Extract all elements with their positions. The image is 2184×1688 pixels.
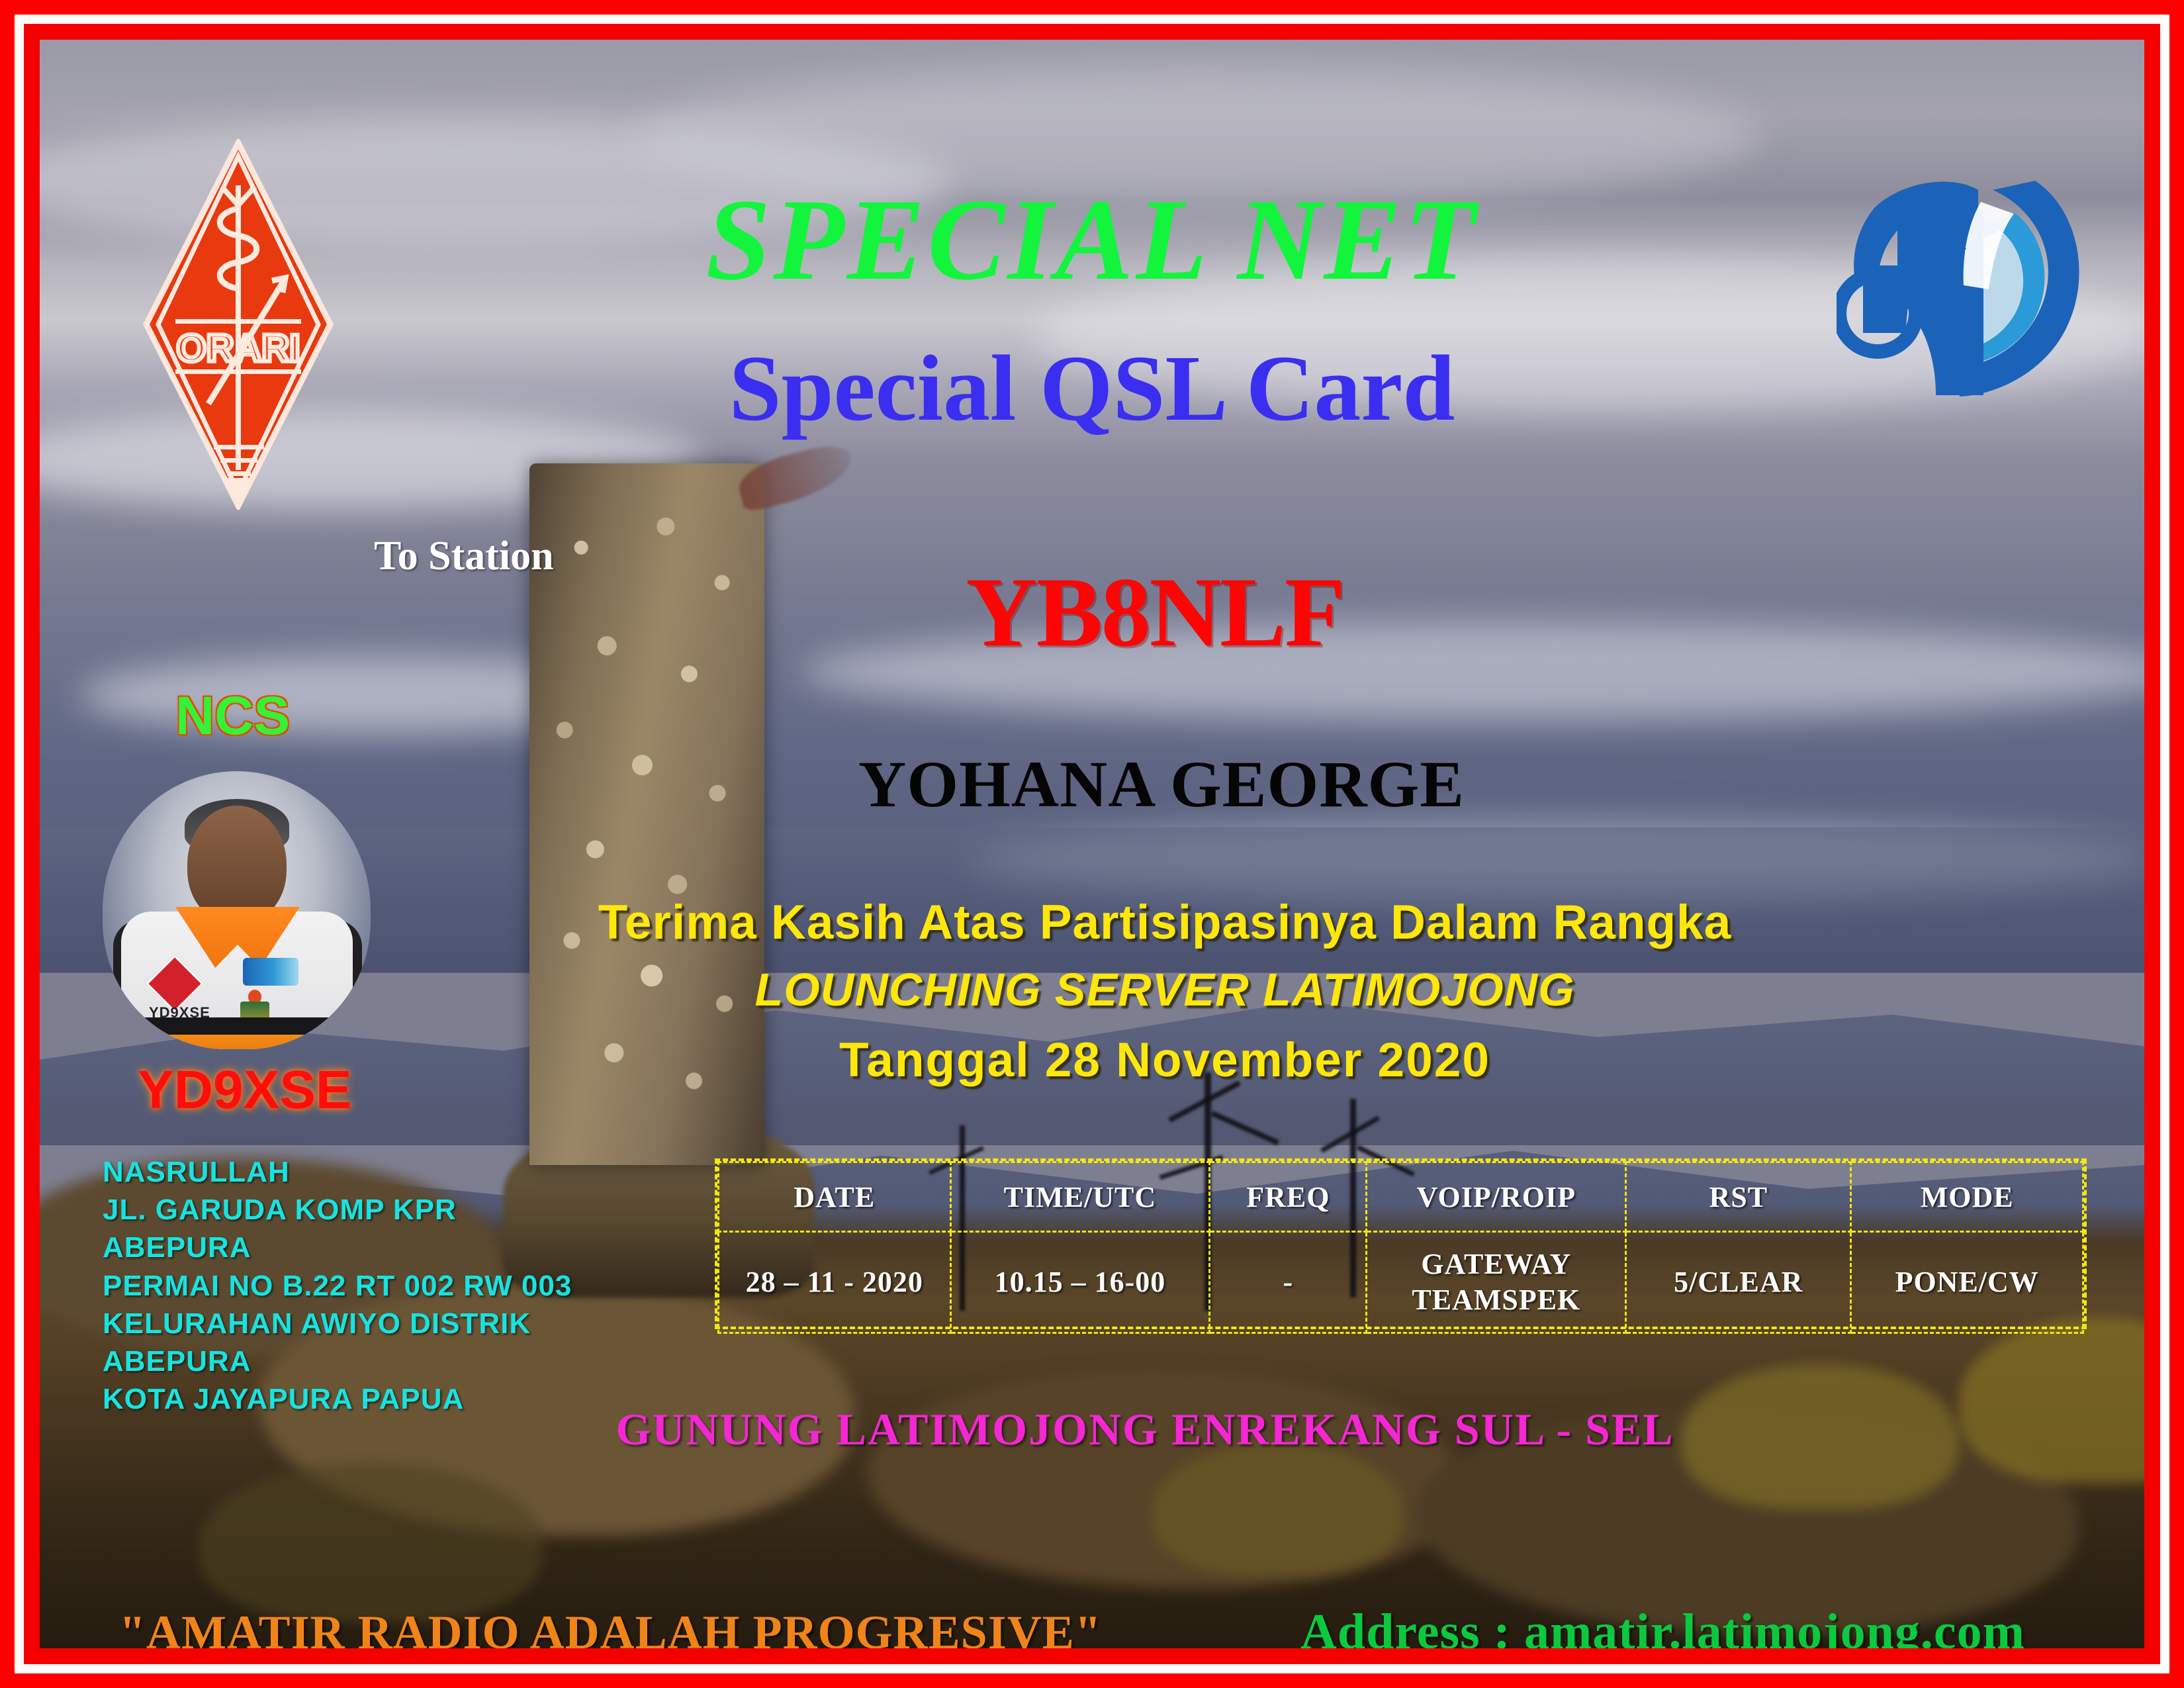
- column-header-mode: MODE: [1851, 1162, 2083, 1232]
- grass-tuft: [1152, 1443, 1403, 1575]
- address-line: NASRULLAH: [103, 1153, 572, 1191]
- operator-face: [187, 806, 287, 923]
- address-line: KELURAHAN AWIYO DISTRIK: [103, 1305, 572, 1342]
- ncs-label: NCS: [175, 685, 290, 747]
- qsl-card-inner-frame: ORARI SPE: [24, 24, 2160, 1664]
- cell-mode: PONE/CW: [1851, 1232, 2083, 1333]
- recipient-callsign: YB8NLF: [103, 563, 2144, 662]
- table-row: 28 – 11 - 2020 10.15 – 16-00 - GATEWAY T…: [719, 1232, 2083, 1333]
- column-header-rst: RST: [1626, 1162, 1851, 1232]
- uniform-callsign-text: YD9XSE: [149, 1004, 210, 1021]
- address-line: ABEPURA: [103, 1342, 572, 1380]
- address-line: PERMAI NO B.22 RT 002 RW 003: [103, 1267, 572, 1305]
- grass-tuft: [199, 1463, 543, 1622]
- ncs-operator-photo: YD9XSE: [103, 771, 371, 1049]
- cell-freq: -: [1210, 1232, 1367, 1333]
- cell-rst: 5/CLEAR: [1626, 1232, 1851, 1333]
- event-thanks-line: Terima Kasih Atas Partisipasinya Dalam R…: [113, 898, 2144, 947]
- qsl-card-outer-frame: ORARI SPE: [0, 0, 2184, 1688]
- uniform-club-logo: [243, 958, 298, 986]
- background-photo-mountain-summit: ORARI SPE: [40, 40, 2144, 1648]
- page-subtitle-special-qsl-card: Special QSL Card: [40, 341, 2144, 435]
- column-header-date: DATE: [719, 1162, 951, 1232]
- station-address-block: NASRULLAH JL. GARUDA KOMP KPR ABEPURA PE…: [103, 1153, 572, 1418]
- event-launch-line: LOUNCHING SERVER LATIMOJONG: [113, 966, 2144, 1013]
- address-line: ABEPURA: [103, 1229, 572, 1266]
- address-line: JL. GARUDA KOMP KPR: [103, 1191, 572, 1229]
- location-line: GUNUNG LATIMOJONG ENREKANG SUL - SEL: [93, 1403, 2144, 1456]
- cell-voip-roip: GATEWAY TEAMSPEK: [1367, 1232, 1626, 1333]
- footer-motto: "AMATIR RADIO ADALAH PROGRESIVE": [119, 1605, 1102, 1648]
- cell-voip-roip-line1: GATEWAY: [1368, 1246, 1624, 1282]
- column-header-freq: FREQ: [1210, 1162, 1367, 1232]
- qso-details-table: DATE TIME/UTC FREQ VOIP/ROIP RST MODE 28…: [715, 1158, 2087, 1329]
- recipient-operator-name: YOHANA GEORGE: [109, 751, 2144, 818]
- footer-web-address: Address : amatir.latimojong.com: [1300, 1603, 2025, 1648]
- column-header-time-utc: TIME/UTC: [950, 1162, 1210, 1232]
- column-header-voip-roip: VOIP/ROIP: [1367, 1162, 1626, 1232]
- cell-voip-roip-line2: TEAMSPEK: [1368, 1282, 1624, 1318]
- qsl-card-white-gap: ORARI SPE: [15, 15, 2169, 1673]
- cell-time-utc: 10.15 – 16-00: [950, 1232, 1210, 1333]
- ncs-callsign: YD9XSE: [138, 1059, 352, 1121]
- event-date-line: Tanggal 28 November 2020: [113, 1036, 2144, 1084]
- table-header-row: DATE TIME/UTC FREQ VOIP/ROIP RST MODE: [719, 1162, 2083, 1232]
- page-title-special-net: SPECIAL NET: [40, 182, 2144, 299]
- uniform-lower-band: [121, 1035, 353, 1049]
- cell-date: 28 – 11 - 2020: [719, 1232, 951, 1333]
